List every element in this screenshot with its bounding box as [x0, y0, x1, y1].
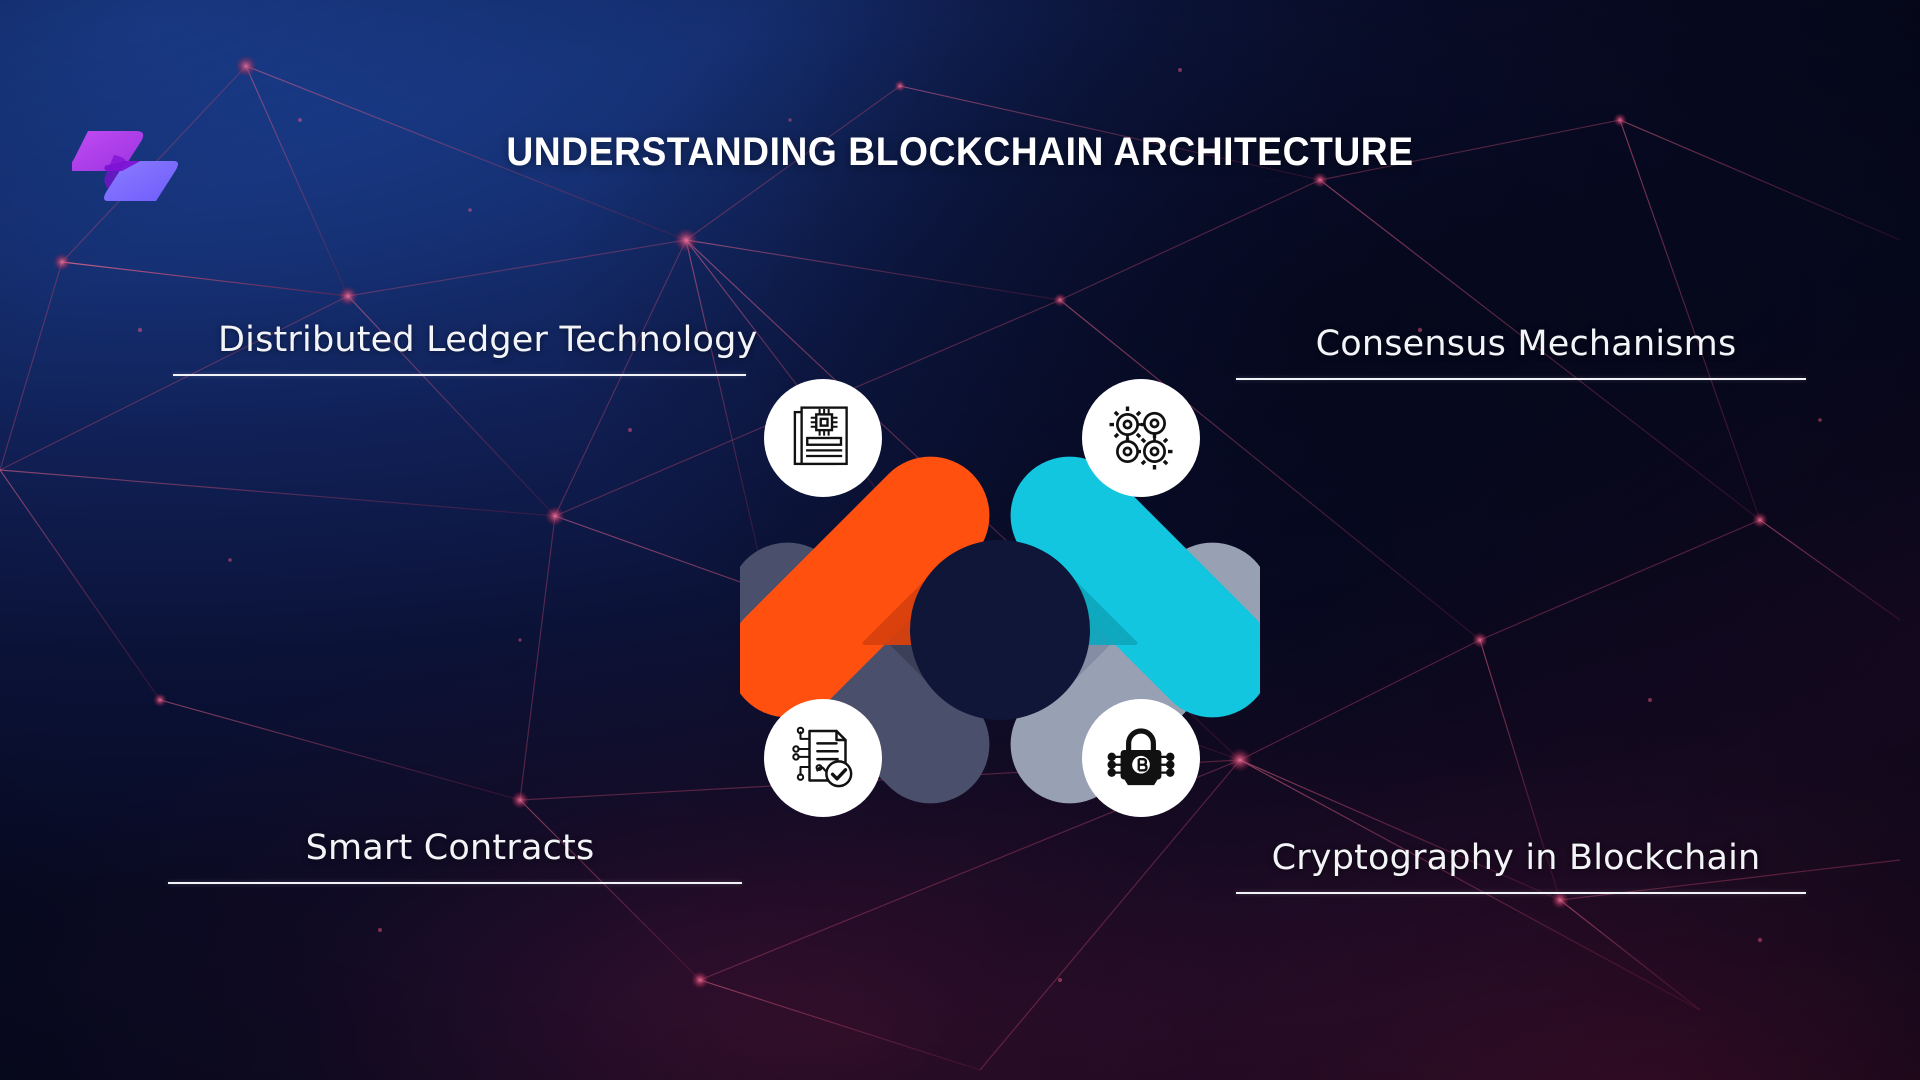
label-underline [1236, 892, 1806, 894]
label-underline [1236, 378, 1806, 380]
x-diagram [740, 365, 1260, 895]
label-underline [173, 374, 746, 376]
label-text: Cryptography in Blockchain [1236, 838, 1806, 878]
document-chip-icon [787, 402, 859, 474]
icon-badge-smart-contracts[interactable] [764, 699, 882, 817]
label-cryptography-in-blockchain[interactable]: Cryptography in Blockchain [1236, 838, 1806, 894]
gears-icon [1105, 402, 1177, 474]
label-text: Smart Contracts [168, 828, 742, 868]
label-text: Distributed Ledger Technology [173, 320, 746, 360]
icon-badge-consensus[interactable] [1082, 379, 1200, 497]
label-text: Consensus Mechanisms [1236, 324, 1806, 364]
icon-badge-cryptography[interactable] [1082, 699, 1200, 817]
center-circle [910, 540, 1090, 720]
icon-badge-distributed-ledger[interactable] [764, 379, 882, 497]
label-distributed-ledger-technology[interactable]: Distributed Ledger Technology [173, 320, 746, 376]
page-title: UNDERSTANDING BLOCKCHAIN ARCHITECTURE [67, 130, 1853, 175]
label-smart-contracts[interactable]: Smart Contracts [168, 828, 742, 884]
bitcoin-padlock-icon [1105, 722, 1177, 794]
signed-document-check-icon [787, 722, 859, 794]
label-underline [168, 882, 742, 884]
label-consensus-mechanisms[interactable]: Consensus Mechanisms [1236, 324, 1806, 380]
slide-canvas: UNDERSTANDING BLOCKCHAIN ARCHITECTURE Di… [0, 0, 1920, 1080]
